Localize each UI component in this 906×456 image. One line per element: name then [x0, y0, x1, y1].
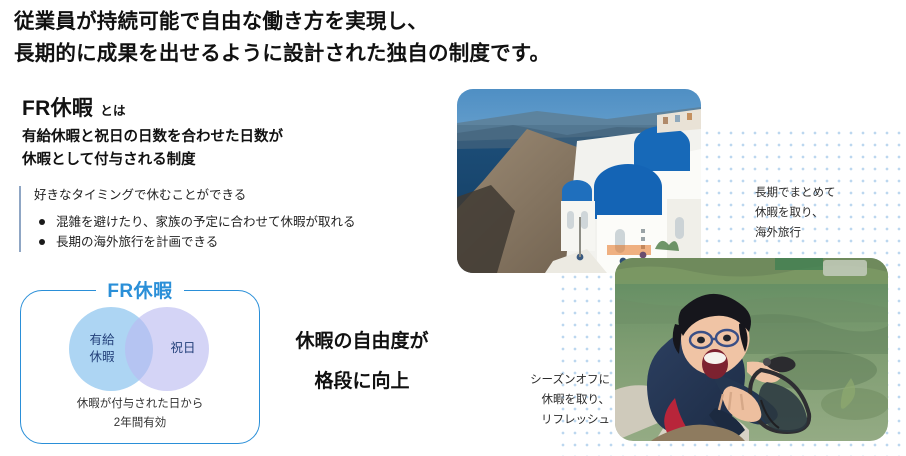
venn-label-left: 有給 休暇 — [73, 332, 131, 366]
venn-diagram-card: FR休暇 有給 休暇 祝日 休暇が付与された日から 2年間有効 — [20, 290, 260, 444]
slide-canvas: 従業員が持続可能で自由な働き方を実現し、 長期的に成果を出せるように設計された独… — [0, 0, 906, 456]
section-title-main: FR休暇 — [22, 97, 93, 120]
note-heading: 好きなタイミングで休むことができる — [34, 186, 454, 205]
venn-label-right: 祝日 — [163, 340, 203, 357]
statement-line-2: 格段に向上 — [272, 362, 452, 402]
caption-photo1-line-2: 休暇を取り、 — [755, 204, 836, 224]
note-block: 好きなタイミングで休むことができる 混雑を避けたり、家族の予定に合わせて休暇が取… — [19, 186, 454, 252]
section-title: FR休暇とは — [22, 92, 126, 122]
caption-photo1-line-3: 海外旅行 — [755, 224, 836, 244]
venn-footer-line-1: 休暇が付与された日から — [21, 395, 259, 414]
section-lead-line-1: 有給休暇と祝日の日数を合わせた日数が — [22, 126, 283, 149]
section-lead: 有給休暇と祝日の日数を合わせた日数が 休暇として付与される制度 — [22, 126, 283, 173]
headline-line-2: 長期的に成果を出せるように設計された独自の制度です。 — [14, 38, 714, 70]
statement-text: 休暇の自由度が 格段に向上 — [272, 322, 452, 402]
photo-pond-image — [615, 258, 888, 441]
venn-circles: 有給 休暇 祝日 — [21, 307, 259, 391]
section-lead-line-2: 休暇として付与される制度 — [22, 149, 283, 172]
photo-santorini — [457, 89, 701, 273]
photo-santorini-image — [457, 89, 701, 273]
page-title: 従業員が持続可能で自由な働き方を実現し、 長期的に成果を出せるように設計された独… — [14, 6, 714, 71]
venn-label-left-line-2: 休暇 — [73, 349, 131, 366]
caption-photo2-line-2: 休暇を取り、 — [490, 391, 610, 411]
section-title-suffix: とは — [100, 104, 126, 118]
note-bullet-list: 混雑を避けたり、家族の予定に合わせて休暇が取れる 長期の海外旅行を計画できる — [34, 212, 454, 253]
photo-pond — [615, 258, 888, 441]
caption-photo-santorini: 長期でまとめて 休暇を取り、 海外旅行 — [755, 184, 836, 243]
statement-line-1: 休暇の自由度が — [272, 322, 452, 362]
caption-photo1-line-1: 長期でまとめて — [755, 184, 836, 204]
venn-footer-line-2: 2年間有効 — [21, 414, 259, 433]
headline-line-1: 従業員が持続可能で自由な働き方を実現し、 — [14, 6, 714, 38]
venn-card-title: FR休暇 — [21, 276, 259, 303]
list-item: 長期の海外旅行を計画できる — [34, 232, 454, 252]
venn-card-title-label: FR休暇 — [96, 276, 183, 303]
venn-footer-note: 休暇が付与された日から 2年間有効 — [21, 395, 259, 432]
caption-photo-pond: シーズンオフに 休暇を取り、 リフレッシュ — [490, 371, 610, 430]
venn-label-left-line-1: 有給 — [73, 332, 131, 349]
list-item: 混雑を避けたり、家族の予定に合わせて休暇が取れる — [34, 212, 454, 232]
caption-photo2-line-3: リフレッシュ — [490, 411, 610, 431]
caption-photo2-line-1: シーズンオフに — [490, 371, 610, 391]
